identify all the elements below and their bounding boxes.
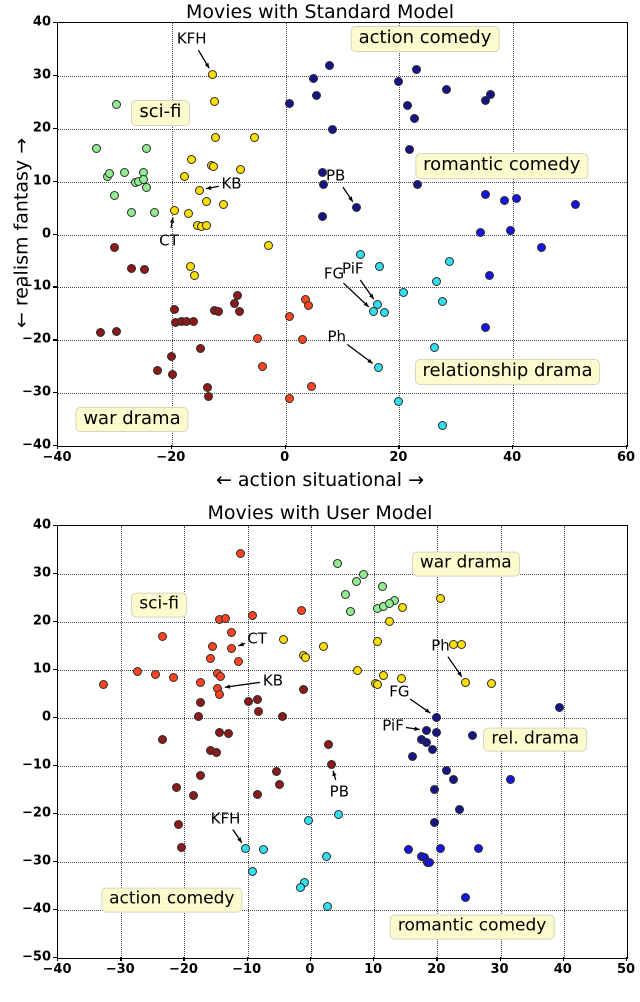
data-point (169, 673, 178, 682)
data-point (328, 125, 337, 134)
data-point (449, 775, 458, 784)
data-point (184, 209, 193, 218)
data-point (196, 771, 205, 780)
data-point (168, 370, 177, 379)
point-annotation-ph: Ph (431, 639, 450, 654)
y-tick-mark (53, 813, 57, 814)
data-point (254, 707, 263, 716)
data-point (221, 614, 230, 623)
data-point (206, 654, 215, 663)
x-tick-label: 0 (305, 962, 314, 977)
data-point (430, 343, 439, 352)
data-point (140, 265, 149, 274)
data-point (474, 844, 483, 853)
data-point (324, 740, 333, 749)
data-point (394, 397, 403, 406)
y-tick-mark (53, 339, 57, 340)
plot-area-standard-model: action comedysci-firomantic comedyrelati… (57, 22, 628, 447)
y-tick-mark (53, 861, 57, 862)
data-point (99, 680, 108, 689)
data-point (341, 590, 350, 599)
y-tick-label: −10 (22, 758, 51, 773)
data-point (248, 867, 257, 876)
data-point (430, 785, 439, 794)
data-point (432, 713, 441, 722)
region-label: relationship drama (415, 359, 601, 385)
data-point (380, 308, 389, 317)
data-point (234, 657, 243, 666)
data-point (304, 301, 313, 310)
data-point (555, 703, 564, 712)
data-point (352, 203, 361, 212)
data-point (352, 577, 361, 586)
data-point (187, 155, 196, 164)
data-point (209, 162, 218, 171)
gridline-horizontal (58, 862, 627, 863)
data-point (194, 712, 203, 721)
gridline-vertical (311, 526, 312, 958)
y-tick-label: −30 (22, 854, 51, 869)
data-point (412, 65, 421, 74)
data-point (461, 893, 470, 902)
y-tick-mark (53, 957, 57, 958)
data-point (170, 305, 179, 314)
y-tick-mark (53, 573, 57, 574)
data-point (422, 726, 431, 735)
data-point (309, 74, 318, 83)
data-point (127, 264, 136, 273)
x-tick-label: −20 (156, 450, 185, 465)
data-point (455, 805, 464, 814)
y-axis-label-standard-model: ← realism fantasy → (10, 21, 32, 444)
data-point (219, 200, 228, 209)
data-point (203, 383, 212, 392)
x-tick-label: 10 (364, 962, 382, 977)
gridline-vertical (374, 526, 375, 958)
data-point (127, 208, 136, 217)
chart-panel-standard-model: Movies with Standard Model ← realism fan… (0, 0, 640, 500)
x-tick-mark (247, 957, 248, 961)
x-tick-label: −10 (232, 962, 261, 977)
data-point (438, 297, 447, 306)
y-tick-label: 20 (33, 120, 51, 135)
data-point (325, 61, 334, 70)
region-label: war drama (412, 552, 520, 577)
x-tick-label: 50 (617, 962, 635, 977)
data-point (413, 180, 422, 189)
x-tick-mark (512, 445, 513, 449)
gridline-horizontal (58, 766, 627, 767)
gridline-horizontal (58, 76, 627, 77)
x-tick-mark (373, 957, 374, 961)
data-point (461, 678, 470, 687)
data-point (236, 165, 245, 174)
data-point (204, 392, 213, 401)
point-annotation-kb: KB (221, 176, 241, 191)
gridline-vertical (437, 526, 438, 958)
y-tick-label: 40 (33, 518, 51, 533)
data-point (445, 257, 454, 266)
data-point (142, 144, 151, 153)
data-point (432, 277, 441, 286)
x-tick-mark (120, 957, 121, 961)
data-point (186, 262, 195, 271)
y-tick-label: −20 (22, 332, 51, 347)
data-point (373, 680, 382, 689)
data-point (356, 250, 365, 259)
data-point (408, 752, 417, 761)
data-point (153, 366, 162, 375)
data-point (250, 133, 259, 142)
y-tick-mark (53, 525, 57, 526)
data-point (512, 194, 521, 203)
region-label: action comedy (351, 26, 500, 52)
gridline-vertical (399, 23, 400, 446)
data-point (312, 91, 321, 100)
data-point (410, 114, 419, 123)
data-point (264, 241, 273, 250)
y-tick-label: 10 (33, 173, 51, 188)
region-label: romantic comedy (390, 914, 555, 939)
x-tick-mark (285, 445, 286, 449)
data-point (442, 766, 451, 775)
data-point (405, 145, 414, 154)
y-tick-label: 0 (42, 226, 51, 241)
data-point (227, 644, 236, 653)
gridline-horizontal (58, 718, 627, 719)
data-point (403, 101, 412, 110)
data-point (112, 327, 121, 336)
data-point (476, 228, 485, 237)
region-label: action comedy (101, 888, 242, 913)
x-tick-mark (436, 957, 437, 961)
x-tick-label: −30 (106, 962, 135, 977)
data-point (258, 362, 267, 371)
data-point (506, 775, 515, 784)
y-tick-label: −40 (22, 902, 51, 917)
data-point (425, 858, 434, 867)
x-tick-label: 60 (617, 450, 635, 465)
data-point (211, 133, 220, 142)
data-point (486, 90, 495, 99)
data-point (248, 611, 257, 620)
y-tick-mark (53, 128, 57, 129)
data-point (279, 635, 288, 644)
data-point (275, 780, 284, 789)
data-point (353, 666, 362, 675)
y-tick-mark (53, 621, 57, 622)
data-point (189, 317, 198, 326)
data-point (110, 191, 119, 200)
x-tick-label: 40 (503, 450, 521, 465)
gridline-horizontal (58, 393, 627, 394)
data-point (487, 679, 496, 688)
data-point (278, 712, 287, 721)
data-point (224, 729, 233, 738)
x-tick-mark (57, 957, 58, 961)
y-tick-mark (53, 909, 57, 910)
data-point (506, 226, 515, 235)
y-tick-label: −10 (22, 279, 51, 294)
data-point (373, 637, 382, 646)
y-tick-mark (53, 286, 57, 287)
data-point (241, 844, 250, 853)
x-tick-mark (183, 957, 184, 961)
data-point (227, 628, 236, 637)
data-point (296, 883, 305, 892)
data-point (215, 728, 224, 737)
y-tick-label: −30 (22, 385, 51, 400)
data-point (214, 307, 223, 316)
data-point (385, 617, 394, 626)
region-label: rel. drama (483, 727, 587, 752)
data-point (285, 394, 294, 403)
chart-title-user-model: Movies with User Model (0, 502, 640, 524)
data-point (189, 791, 198, 800)
data-point (174, 820, 183, 829)
data-point (404, 845, 413, 854)
data-point (318, 212, 327, 221)
data-point (394, 77, 403, 86)
data-point (438, 421, 447, 430)
data-point (96, 328, 105, 337)
point-annotation-pif: PiF (382, 718, 404, 733)
gridline-horizontal (58, 129, 627, 130)
data-point (301, 653, 310, 662)
data-point (172, 783, 181, 792)
data-point (485, 271, 494, 280)
gridline-horizontal (58, 235, 627, 236)
y-tick-mark (53, 22, 57, 23)
data-point (346, 607, 355, 616)
point-annotation-fg: FG (389, 684, 409, 699)
data-point (253, 790, 262, 799)
gridline-horizontal (58, 670, 627, 671)
y-tick-label: −20 (22, 806, 51, 821)
y-tick-mark (53, 75, 57, 76)
data-point (215, 690, 224, 699)
x-tick-mark (626, 957, 627, 961)
data-point (298, 335, 307, 344)
x-tick-mark (310, 957, 311, 961)
x-tick-label: 20 (427, 962, 445, 977)
data-point (112, 100, 121, 109)
data-point (190, 271, 199, 280)
x-tick-label: 20 (389, 450, 407, 465)
region-label: war drama (75, 407, 188, 433)
point-annotation-kb: KB (263, 673, 283, 688)
data-point (236, 549, 245, 558)
data-point (468, 731, 477, 740)
data-point (385, 599, 394, 608)
data-point (322, 852, 331, 861)
data-point (422, 738, 431, 747)
gridline-horizontal (58, 574, 627, 575)
data-point (378, 582, 387, 591)
data-point (571, 200, 580, 209)
data-point (110, 243, 119, 252)
data-point (235, 307, 244, 316)
point-annotation-ph: Ph (328, 329, 347, 344)
x-tick-mark (398, 445, 399, 449)
x-tick-mark (57, 445, 58, 449)
y-tick-mark (53, 717, 57, 718)
data-point (399, 288, 408, 297)
y-tick-label: 10 (33, 662, 51, 677)
chart-title-standard-model: Movies with Standard Model (0, 1, 640, 23)
x-tick-mark (626, 445, 627, 449)
y-tick-label: −50 (22, 950, 51, 965)
y-tick-label: 30 (33, 67, 51, 82)
point-annotation-ct: CT (159, 233, 179, 248)
data-point (158, 735, 167, 744)
data-point (253, 334, 262, 343)
x-tick-mark (500, 957, 501, 961)
x-tick-mark (171, 445, 172, 449)
y-tick-mark (53, 765, 57, 766)
data-point (180, 172, 189, 181)
x-tick-mark (563, 957, 564, 961)
data-point (202, 221, 211, 230)
x-tick-label: 30 (491, 962, 509, 977)
y-tick-mark (53, 181, 57, 182)
data-point (196, 698, 205, 707)
data-point (430, 818, 439, 827)
data-point (196, 678, 205, 687)
data-point (436, 844, 445, 853)
data-point (142, 183, 151, 192)
data-point (170, 206, 179, 215)
region-label: sci-fi (131, 593, 187, 618)
y-tick-label: 30 (33, 566, 51, 581)
region-label: romantic comedy (415, 153, 588, 179)
data-point (537, 243, 546, 252)
x-tick-label: 40 (554, 962, 572, 977)
data-point (158, 632, 167, 641)
data-point (259, 845, 268, 854)
data-point (432, 728, 441, 737)
data-point (92, 144, 101, 153)
plot-area-user-model: war dramasci-firel. dramaaction comedyro… (57, 525, 628, 959)
data-point (208, 642, 217, 651)
y-tick-mark (53, 234, 57, 235)
x-tick-label: −20 (169, 962, 198, 977)
gridline-horizontal (58, 287, 627, 288)
point-annotation-kfh: KFH (177, 31, 207, 46)
x-tick-label: 0 (280, 450, 289, 465)
point-annotation-pif: PiF (342, 262, 364, 277)
gridline-vertical (286, 23, 287, 446)
data-point (436, 594, 445, 603)
data-point (379, 671, 388, 680)
y-tick-label: −40 (22, 438, 51, 453)
data-point (333, 559, 342, 568)
figure-root: Movies with Standard Model ← realism fan… (0, 0, 640, 1002)
point-annotation-ct: CT (247, 631, 267, 646)
gridline-horizontal (58, 622, 627, 623)
data-point (105, 169, 114, 178)
data-point (299, 685, 308, 694)
data-point (285, 99, 294, 108)
point-annotation-kfh: KFH (211, 811, 241, 826)
region-label: sci-fi (131, 100, 189, 126)
y-tick-mark (53, 392, 57, 393)
data-point (195, 186, 204, 195)
data-point (374, 363, 383, 372)
data-point (323, 902, 332, 911)
y-tick-mark (53, 445, 57, 446)
data-point (307, 382, 316, 391)
data-point (120, 168, 129, 177)
data-point (398, 603, 407, 612)
data-point (297, 606, 306, 615)
data-point (253, 695, 262, 704)
point-annotation-pb: PB (326, 169, 345, 184)
y-tick-label: 0 (42, 710, 51, 725)
data-point (216, 672, 225, 681)
data-point (319, 642, 328, 651)
data-point (481, 190, 490, 199)
data-point (285, 312, 294, 321)
data-point (212, 748, 221, 757)
data-point (177, 843, 186, 852)
data-point (304, 816, 313, 825)
data-point (334, 810, 343, 819)
data-point (150, 208, 159, 217)
x-axis-label-standard-model: ← action situational → (0, 469, 640, 491)
data-point (500, 196, 509, 205)
data-point (375, 262, 384, 271)
data-point (151, 670, 160, 679)
data-point (167, 352, 176, 361)
data-point (210, 97, 219, 106)
data-point (327, 760, 336, 769)
y-tick-mark (53, 669, 57, 670)
y-tick-label: 20 (33, 614, 51, 629)
y-tick-label: 40 (33, 15, 51, 30)
data-point (272, 767, 281, 776)
data-point (133, 667, 142, 676)
point-annotation-pb: PB (330, 785, 349, 800)
data-point (208, 70, 217, 79)
data-point (481, 323, 490, 332)
data-point (202, 197, 211, 206)
data-point (457, 640, 466, 649)
data-point (196, 344, 205, 353)
data-point (442, 85, 451, 94)
gridline-vertical (248, 526, 249, 958)
chart-panel-user-model: Movies with User Model war dramasci-fire… (0, 500, 640, 1002)
